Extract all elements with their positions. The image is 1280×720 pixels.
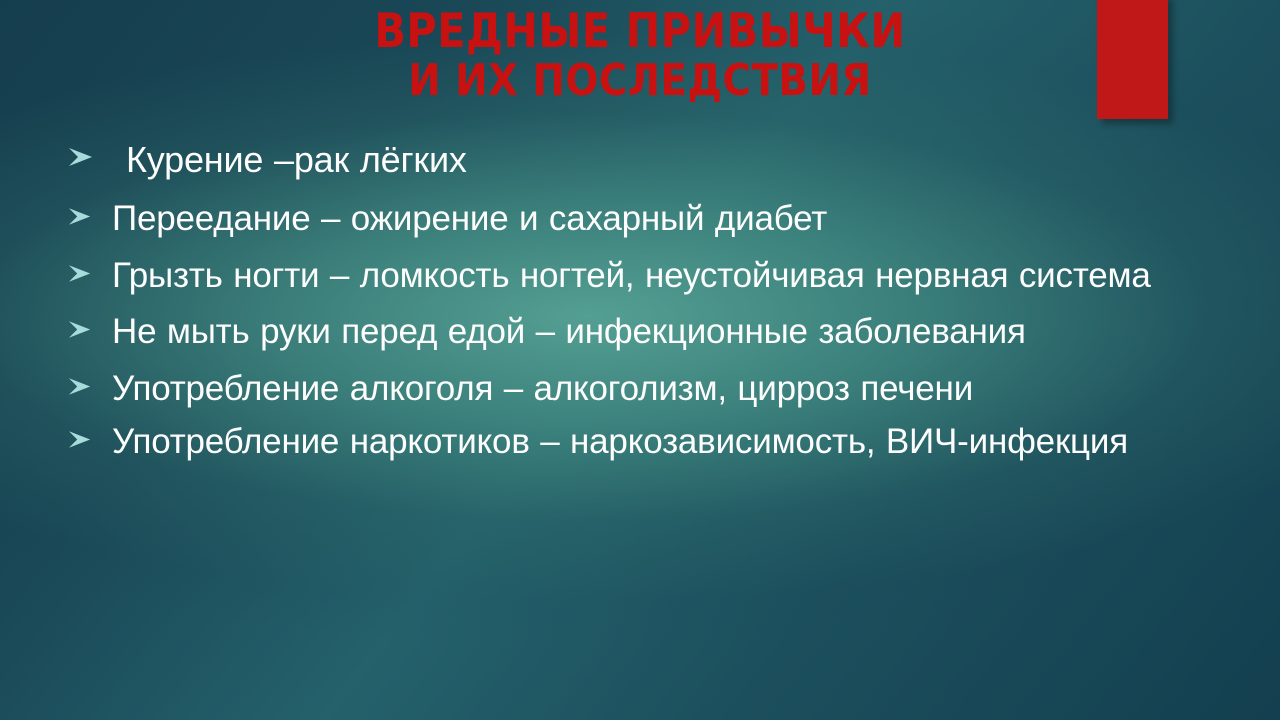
arrow-bullet-icon <box>10 198 112 226</box>
arrow-bullet-icon <box>10 255 112 283</box>
arrow-bullet-icon <box>10 138 112 167</box>
bullet-list: Курение –рак лёгких Переедание – ожирени… <box>0 138 1280 475</box>
arrow-bullet-icon <box>10 311 112 339</box>
slide-canvas: Вредные привычки и их последствия Курени… <box>0 0 1280 720</box>
list-item: Курение –рак лёгких <box>10 138 1274 182</box>
list-item: Грызть ногти – ломкость ногтей, неустойч… <box>10 255 1274 297</box>
page-title: Вредные привычки и их последствия <box>0 8 1280 104</box>
list-item: Не мыть руки перед едой – инфекционные з… <box>10 311 1274 353</box>
arrow-bullet-icon <box>10 368 112 396</box>
list-item-label: Грызть ногти – ломкость ногтей, неустойч… <box>112 255 1274 297</box>
list-item-label: Не мыть руки перед едой – инфекционные з… <box>112 311 1274 353</box>
page-title-line-1: Вредные привычки <box>77 8 1203 56</box>
list-item-label: Употребление наркотиков – наркозависимос… <box>112 421 1274 463</box>
list-item-label: Курение –рак лёгких <box>112 138 1274 182</box>
arrow-bullet-icon <box>10 421 112 449</box>
list-item: Переедание – ожирение и сахарный диабет <box>10 198 1274 240</box>
list-item-label: Переедание – ожирение и сахарный диабет <box>112 198 1274 240</box>
list-item-label: Употребление алкоголя – алкоголизм, цирр… <box>112 368 1274 410</box>
page-title-line-2: и их последствия <box>77 59 1203 104</box>
list-item: Употребление наркотиков – наркозависимос… <box>10 421 1274 463</box>
list-item: Употребление алкоголя – алкоголизм, цирр… <box>10 368 1274 410</box>
